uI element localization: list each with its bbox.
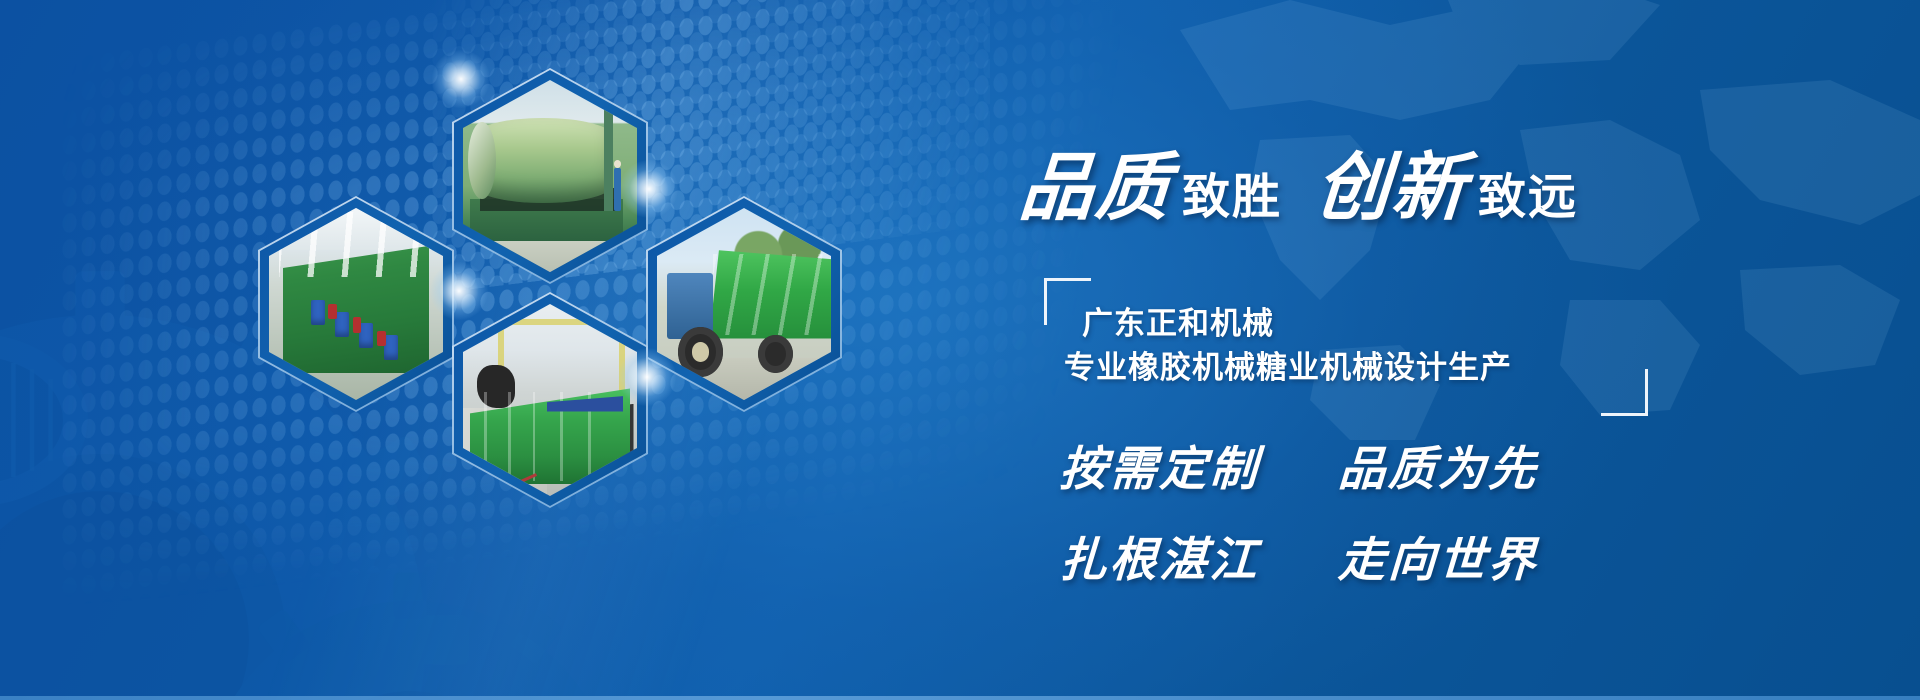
subtitle-line-1: 广东正和机械: [1082, 298, 1274, 343]
hex-photo-drum-machine[interactable]: [452, 68, 648, 284]
hex-photo-production-line[interactable]: [258, 196, 454, 412]
subtitle-line-2: 专业橡胶机械糖业机械设计生产: [1064, 342, 1512, 387]
bottom-edge-highlight: [0, 696, 1920, 700]
headline-part2-small: 致远: [1478, 157, 1578, 227]
headline: 品质 致胜 创新 致远: [1020, 128, 1880, 220]
slogan-row-2: 扎根湛江 走向世界: [1058, 521, 1762, 590]
slogan-1-left: 按需定制: [1058, 442, 1261, 497]
subtitle-bracket-box: 广东正和机械 专业橡胶机械糖业机械设计生产: [1044, 278, 1624, 408]
headline-part1-big: 品质: [1016, 128, 1175, 235]
banner-text-block: 品质 致胜 创新 致远 广东正和机械 专业橡胶机械糖业机械设计生产 按需定制 品…: [1020, 0, 1920, 700]
slogan-1-right: 品质为先: [1337, 442, 1540, 497]
promo-banner: 品质 致胜 创新 致远 广东正和机械 专业橡胶机械糖业机械设计生产 按需定制 品…: [0, 0, 1920, 700]
hex-photo-transport-trailer[interactable]: [646, 196, 842, 412]
slogan-2-left: 扎根湛江: [1058, 533, 1261, 588]
headline-part1-small: 致胜: [1182, 157, 1282, 227]
headline-part2-big: 创新: [1312, 128, 1471, 235]
slogan-2-right: 走向世界: [1337, 533, 1540, 588]
slogan-group: 按需定制 品质为先 扎根湛江 走向世界: [1060, 430, 1760, 612]
slogan-row-1: 按需定制 品质为先: [1058, 430, 1762, 499]
bracket-corner-bottom-right-icon: [1601, 369, 1648, 416]
hexagon-photo-collage: [0, 0, 880, 700]
hex-photo-trough-conveyor[interactable]: [452, 292, 648, 508]
